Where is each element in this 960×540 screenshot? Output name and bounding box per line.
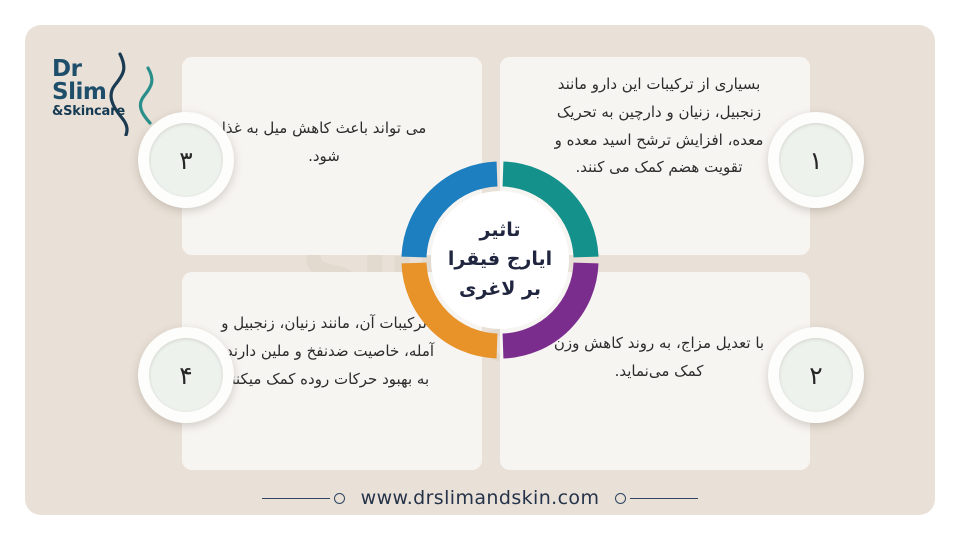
badge-3-face: ۳ [149, 123, 223, 197]
footer-rule-right [630, 498, 698, 499]
infographic-canvas: Dr Slim &Skincare Dr Slim &Skincare می ت… [0, 0, 960, 540]
badge-1-face: ۱ [779, 123, 853, 197]
badge-4-face: ۴ [149, 338, 223, 412]
badge-2-face: ۲ [779, 338, 853, 412]
badge-3: ۳ [138, 112, 234, 208]
center-title-line-3: بر لاغری [459, 275, 541, 304]
footer-bar: www.drslimandskin.com [0, 480, 960, 516]
badge-2: ۲ [768, 327, 864, 423]
badge-1: ۱ [768, 112, 864, 208]
donut-center-label: تاثیر ایارج فیقرا بر لاغری [431, 191, 569, 329]
footer-dot-right [615, 493, 626, 504]
badge-1-number: ۱ [809, 148, 822, 173]
badge-4: ۴ [138, 327, 234, 423]
center-title-line-2: ایارج فیقرا [448, 245, 552, 274]
footer-dot-left [334, 493, 345, 504]
center-title-line-1: تاثیر [480, 216, 521, 245]
center-donut-chart: تاثیر ایارج فیقرا بر لاغری [400, 160, 600, 360]
footer-rule-left [262, 498, 330, 499]
footer-website-url[interactable]: www.drslimandskin.com [361, 487, 600, 509]
badge-2-number: ۲ [809, 363, 822, 388]
badge-4-number: ۴ [179, 363, 192, 388]
badge-3-number: ۳ [179, 148, 192, 173]
